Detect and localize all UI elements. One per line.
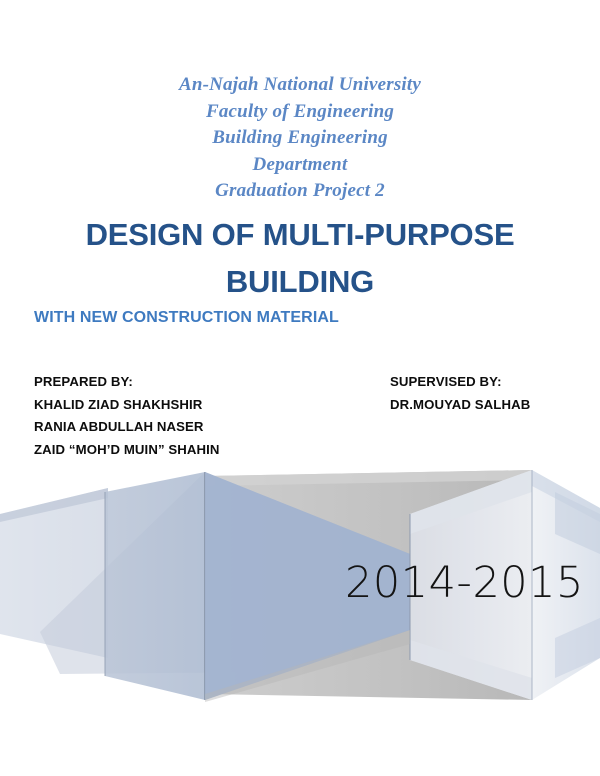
supervised-by-name-1: DR.MOUYAD SALHAB: [390, 394, 574, 417]
institution-line-program: Building Engineering: [0, 125, 600, 152]
prepared-by-column: PREPARED BY: KHALID ZIAD SHAKHSHIR RANIA…: [34, 371, 390, 461]
institution-line-project: Graduation Project 2: [0, 178, 600, 205]
prepared-by-name-1: KHALID ZIAD SHAKHSHIR: [34, 394, 390, 417]
prepared-by-heading: PREPARED BY:: [34, 371, 390, 394]
prepared-by-name-3: ZAID “MOH’D MUIN” SHAHIN: [34, 439, 390, 462]
prepared-by-name-2: RANIA ABDULLAH NASER: [34, 416, 390, 439]
institution-line-faculty: Faculty of Engineering: [0, 99, 600, 126]
institution-header: An-Najah National University Faculty of …: [0, 72, 600, 205]
supervised-by-column: SUPERVISED BY: DR.MOUYAD SALHAB: [390, 371, 574, 416]
page-title-line-1: DESIGN OF MULTI-PURPOSE: [0, 211, 600, 258]
credits-block: PREPARED BY: KHALID ZIAD SHAKHSHIR RANIA…: [34, 371, 574, 461]
page-subtitle: WITH NEW CONSTRUCTION MATERIAL: [34, 307, 554, 328]
institution-line-university: An-Najah National University: [0, 72, 600, 99]
year-label: 2014-2015: [345, 558, 575, 608]
page-title: DESIGN OF MULTI-PURPOSE BUILDING: [0, 211, 600, 305]
document-page: An-Najah National University Faculty of …: [0, 0, 600, 776]
page-title-line-2: BUILDING: [0, 258, 600, 305]
supervised-by-heading: SUPERVISED BY:: [390, 371, 574, 394]
institution-line-department: Department: [0, 152, 600, 179]
